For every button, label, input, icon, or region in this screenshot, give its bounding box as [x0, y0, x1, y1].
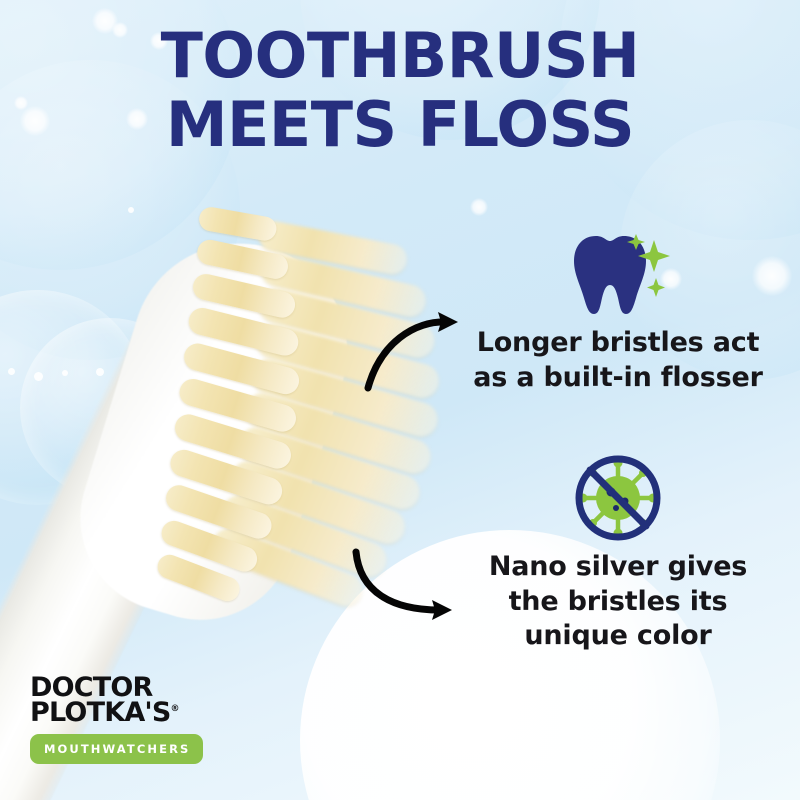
no-germs-icon [438, 452, 798, 544]
page-title: TOOTHBRUSH MEETS FLOSS [0, 26, 800, 154]
bubble [20, 318, 200, 498]
bubble [0, 290, 145, 505]
logo-apostrophe-s: 'S [144, 697, 170, 728]
toothbrush-bristles [70, 193, 471, 654]
toothbrush-head [57, 217, 374, 643]
highlight-speck [166, 368, 173, 375]
feature-block-1: Longer bristles act as a built-in flosse… [438, 228, 798, 395]
bubble [120, 470, 270, 620]
feature-2-line-1: Nano silver gives [438, 550, 798, 585]
tooth-sparkle-icon [438, 228, 798, 320]
logo-plotka-text: PLOTKA [30, 697, 144, 728]
highlight-speck [128, 207, 134, 213]
logo-line-plotkas: PLOTKA'S® [30, 701, 203, 726]
highlight-speck [62, 370, 68, 376]
highlight-speck [34, 372, 43, 381]
feature-1-line-2: as a built-in flosser [438, 361, 798, 396]
highlight-speck [130, 372, 136, 378]
feature-2-line-2: the bristles its [438, 585, 798, 620]
feature-1-line-1: Longer bristles act [438, 326, 798, 361]
brand-logo: DOCTOR PLOTKA'S® MOUTHWATCHERS [30, 676, 203, 764]
feature-2-line-3: unique color [438, 619, 798, 654]
highlight-speck [96, 368, 104, 376]
feature-block-2: Nano silver gives the bristles its uniqu… [438, 452, 798, 654]
bokeh-dot [470, 198, 488, 216]
logo-tagline-pill: MOUTHWATCHERS [30, 734, 203, 764]
infographic-canvas: TOOTHBRUSH MEETS FLOSS [0, 0, 800, 800]
headline-line-2: MEETS FLOSS [0, 95, 800, 155]
logo-tagline-text: MOUTHWATCHERS [44, 742, 190, 756]
registered-mark: ® [171, 704, 180, 714]
highlight-speck [8, 368, 15, 375]
headline-line-1: TOOTHBRUSH [0, 26, 800, 86]
